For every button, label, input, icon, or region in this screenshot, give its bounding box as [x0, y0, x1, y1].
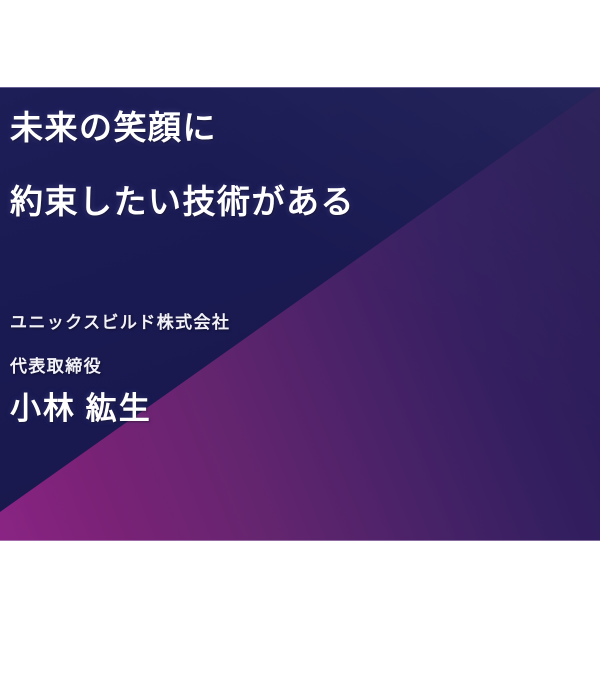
page-root: 未来の笑顔に 約束したい技術がある ユニックスビルド株式会社 代表取締役 小林 …	[0, 0, 600, 693]
hero-headline: 未来の笑顔に 約束したい技術がある	[10, 111, 570, 221]
hero-banner: 未来の笑顔に 約束したい技術がある ユニックスビルド株式会社 代表取締役 小林 …	[0, 87, 600, 541]
headline-line-1: 未来の笑顔に	[10, 111, 570, 147]
company-name: ユニックスビルド株式会社	[10, 312, 430, 334]
hero-content: 未来の笑顔に 約束したい技術がある ユニックスビルド株式会社 代表取締役 小林 …	[10, 87, 600, 541]
person-name: 小林 紘生	[10, 390, 430, 428]
job-title: 代表取締役	[10, 356, 430, 378]
headline-line-2: 約束したい技術がある	[10, 185, 570, 221]
hero-signature-block: ユニックスビルド株式会社 代表取締役 小林 紘生	[10, 312, 430, 428]
